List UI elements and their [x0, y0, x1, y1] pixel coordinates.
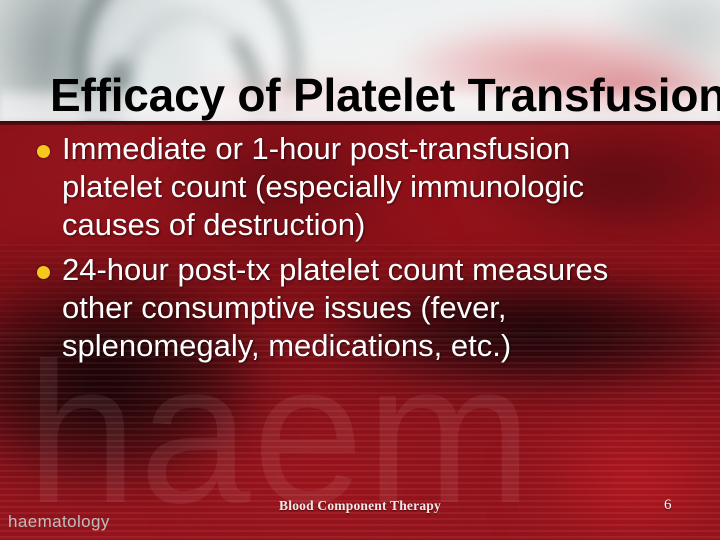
bullet-dot-icon: [37, 266, 50, 279]
bullet-item-text: Immediate or 1-hour post-transfusion pla…: [62, 130, 662, 244]
slide-title: Efficacy of Platelet Transfusions: [50, 67, 700, 123]
bullet-dot-icon: [37, 145, 50, 158]
header-divider-rule: [0, 121, 720, 125]
bullet-item-text: 24-hour post-tx platelet count measures …: [62, 251, 662, 365]
body-bright-shape-center: [180, 422, 480, 540]
brand-label: haematology: [8, 512, 110, 532]
list-item: Immediate or 1-hour post-transfusion pla…: [0, 130, 700, 244]
list-item: 24-hour post-tx platelet count measures …: [0, 251, 700, 365]
presentation-slide: Efficacy of Platelet Transfusions haem I…: [0, 0, 720, 540]
footer-page-number: 6: [664, 497, 672, 514]
body-bright-shape-lower-right: [520, 407, 720, 540]
slide-bullet-list: Immediate or 1-hour post-transfusion pla…: [0, 130, 700, 372]
